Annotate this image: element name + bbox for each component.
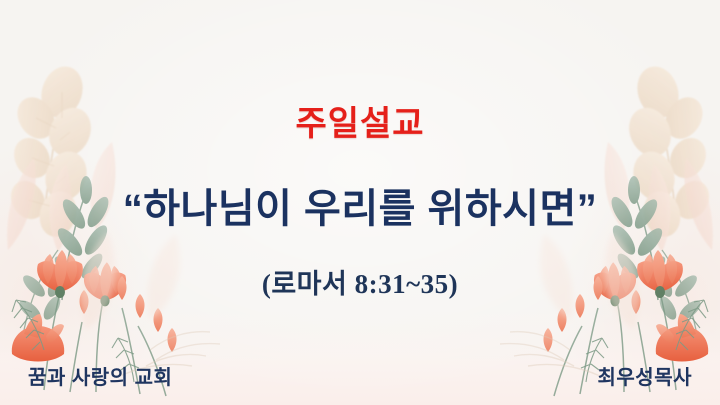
slide-text-content: 주일설교 “하나님이 우리를 위하시면” (로마서 8:31~35) 꿈과 사랑… — [0, 0, 720, 405]
pastor-name: 최우성목사 — [598, 361, 693, 390]
church-name: 꿈과 사랑의 교회 — [28, 361, 172, 390]
sermon-title: “하나님이 우리를 위하시면” — [0, 186, 720, 232]
sermon-category-kicker: 주일설교 — [0, 106, 720, 143]
sermon-title-slide: 주일설교 “하나님이 우리를 위하시면” (로마서 8:31~35) 꿈과 사랑… — [0, 0, 720, 405]
scripture-reference: (로마서 8:31~35) — [0, 262, 720, 301]
